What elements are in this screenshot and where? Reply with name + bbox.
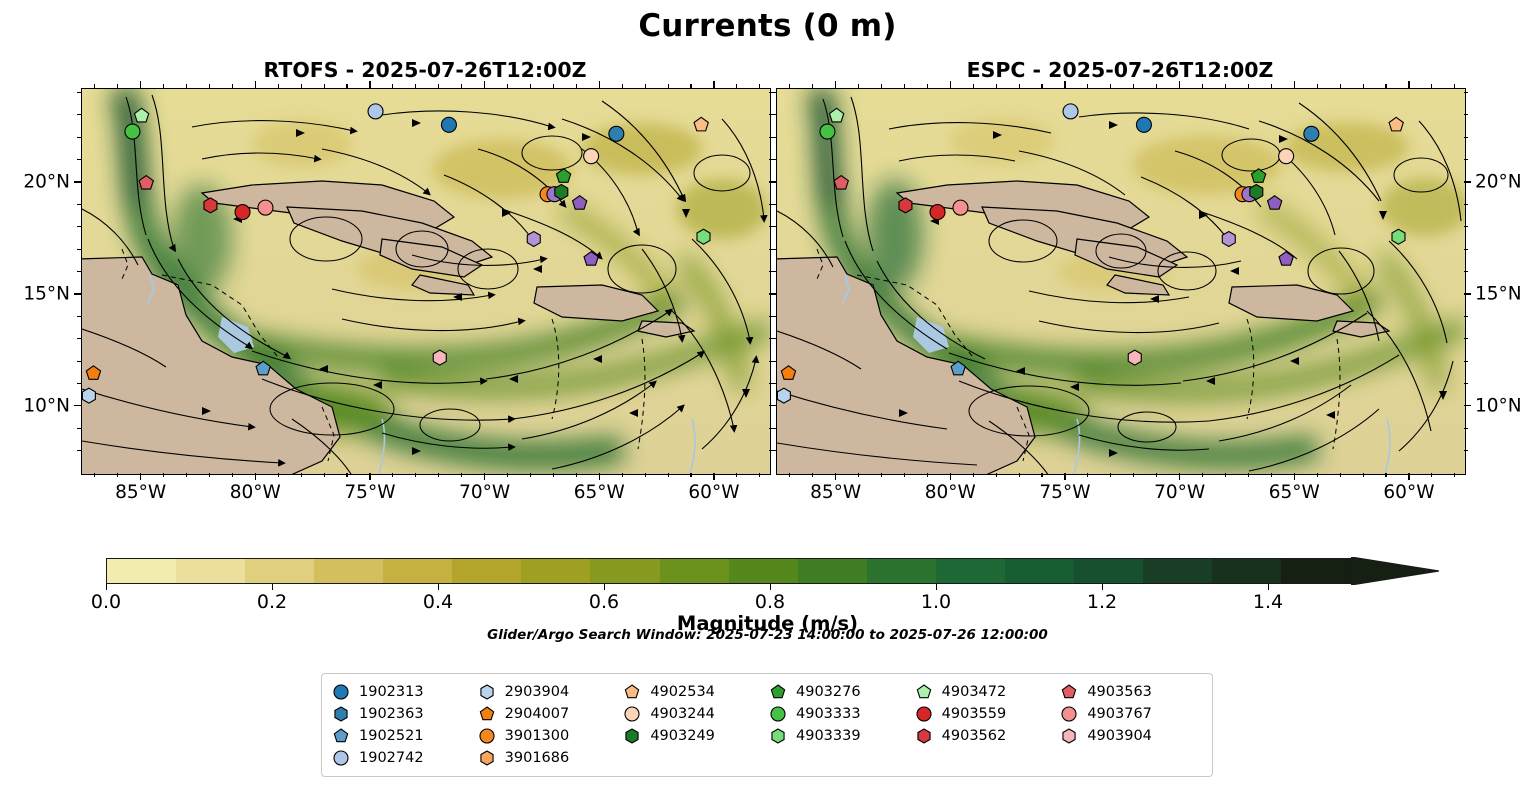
platform-marker-4902534[interactable] xyxy=(694,117,708,131)
legend-label: 4903904 xyxy=(1087,728,1152,744)
legend-label: 4903244 xyxy=(650,706,715,722)
y-tick-minor xyxy=(772,204,776,205)
platform-marker-4903339[interactable] xyxy=(697,229,710,244)
y-tick-label: 10°N xyxy=(1475,395,1522,416)
y-tick-major-right xyxy=(1464,181,1471,182)
x-tick-minor xyxy=(1110,473,1111,477)
x-tick-minor xyxy=(392,473,393,477)
y-tick-minor-right xyxy=(1464,249,1468,250)
colorbar[interactable] xyxy=(106,558,1436,584)
x-tick-major-top xyxy=(950,81,951,88)
y-tick-minor xyxy=(77,383,81,384)
x-tick-minor-top xyxy=(1248,84,1249,88)
colorbar-tick xyxy=(272,584,273,590)
colorbar-tick xyxy=(106,584,107,590)
colorbar-band-8 xyxy=(660,559,729,583)
platform-marker-1902313[interactable] xyxy=(1136,117,1151,132)
x-tick-major-top xyxy=(599,81,600,88)
x-tick-minor-top xyxy=(622,84,623,88)
legend-item-4903472[interactable]: 4903472 xyxy=(915,681,1057,702)
y-tick-minor xyxy=(772,159,776,160)
colorbar-tick-label: 1.2 xyxy=(1087,591,1117,613)
y-tick-major-right xyxy=(1464,293,1471,294)
x-tick-minor-top xyxy=(668,84,669,88)
x-tick-minor-top xyxy=(576,84,577,88)
legend-marker-hexagon xyxy=(915,727,933,745)
platform-marker-4903472[interactable] xyxy=(829,108,843,122)
legend-marker-circle xyxy=(1060,705,1078,723)
y-tick-major-right xyxy=(1464,405,1471,406)
x-tick-minor xyxy=(415,473,416,477)
y-tick-minor-right xyxy=(1464,271,1468,272)
y-tick-minor-right xyxy=(1464,383,1468,384)
legend-item-4903244[interactable]: 4903244 xyxy=(623,703,765,724)
platform-marker-4903562[interactable] xyxy=(204,198,217,213)
platform-marker-4903472[interactable] xyxy=(134,108,148,122)
y-tick-minor xyxy=(77,137,81,138)
x-tick-major xyxy=(950,473,951,480)
x-tick-label: 60°W xyxy=(688,482,739,503)
x-tick-label: 65°W xyxy=(1269,482,1320,503)
y-tick-minor-right xyxy=(1464,316,1468,317)
x-tick-label: 60°W xyxy=(1383,482,1434,503)
colorbar-band-5 xyxy=(452,559,521,583)
platform-marker-4903767[interactable] xyxy=(953,200,968,215)
x-tick-minor-top xyxy=(278,84,279,88)
platform-marker-6999992[interactable] xyxy=(1222,231,1235,246)
colorbar-band-17 xyxy=(1281,559,1350,583)
legend-marker-shape[interactable] xyxy=(626,729,638,743)
platform-marker-4903276[interactable] xyxy=(556,169,570,183)
legend-marker-shape[interactable] xyxy=(480,707,493,720)
x-tick-minor xyxy=(645,473,646,477)
x-tick-minor xyxy=(881,473,882,477)
x-tick-minor xyxy=(94,473,95,477)
y-tick-major xyxy=(74,293,81,294)
legend-marker-pentagon xyxy=(623,683,641,701)
platform-marker-4903244[interactable] xyxy=(584,149,599,164)
y-tick-minor xyxy=(77,226,81,227)
legend-marker-shape[interactable] xyxy=(917,685,930,698)
x-tick-minor-top xyxy=(1133,84,1134,88)
platform-marker-1902363[interactable] xyxy=(1304,126,1319,141)
y-tick-minor-right xyxy=(1464,428,1468,429)
platform-marker-4903244[interactable] xyxy=(1279,149,1294,164)
legend-label: 4903339 xyxy=(796,728,861,744)
legend-item-4902534[interactable]: 4902534 xyxy=(623,681,765,702)
y-tick-minor xyxy=(772,226,776,227)
legend-marker-circle xyxy=(915,705,933,723)
platform-legend[interactable]: 1902313190236319025211902742290390429040… xyxy=(321,673,1213,777)
colorbar-band-11 xyxy=(867,559,936,583)
x-tick-major-top xyxy=(369,81,370,88)
y-tick-minor xyxy=(772,249,776,250)
colorbar-tick xyxy=(438,584,439,590)
x-tick-major xyxy=(1408,473,1409,480)
platform-marker-4903904[interactable] xyxy=(433,350,446,365)
x-tick-major xyxy=(1294,473,1295,480)
x-tick-minor-top xyxy=(759,84,760,88)
x-tick-minor xyxy=(1225,473,1226,477)
legend-marker-shape[interactable] xyxy=(771,707,785,721)
x-tick-minor-top xyxy=(1019,84,1020,88)
x-tick-minor xyxy=(1041,473,1042,477)
platform-markers-espc xyxy=(777,89,1465,474)
legend-item-4903339[interactable]: 4903339 xyxy=(769,725,911,746)
platform-marker-1902313[interactable] xyxy=(441,117,456,132)
x-tick-minor xyxy=(1317,473,1318,477)
legend-marker-pentagon xyxy=(915,683,933,701)
x-tick-minor-top xyxy=(530,84,531,88)
legend-marker-hexagon xyxy=(769,727,787,745)
y-tick-minor-right xyxy=(1464,204,1468,205)
x-tick-minor-top xyxy=(690,84,691,88)
x-tick-minor xyxy=(1431,473,1432,477)
x-tick-minor-top xyxy=(996,84,997,88)
x-tick-minor xyxy=(858,473,859,477)
legend-item-1902363[interactable]: 1902363 xyxy=(332,703,474,724)
platform-marker-1902521[interactable] xyxy=(951,361,965,375)
x-tick-minor xyxy=(346,473,347,477)
legend-marker-circle xyxy=(332,749,350,767)
x-tick-minor xyxy=(789,473,790,477)
platform-markers-rtofs xyxy=(82,89,770,474)
legend-label: 4903276 xyxy=(796,684,861,700)
panel-title-espc: ESPC - 2025-07-26T12:00Z xyxy=(776,58,1464,82)
x-tick-label: 80°W xyxy=(230,482,281,503)
colorbar-band-0 xyxy=(107,559,176,583)
y-tick-minor-right xyxy=(1464,114,1468,115)
legend-item-4903276[interactable]: 4903276 xyxy=(769,681,911,702)
legend-marker-hexagon xyxy=(332,705,350,723)
platform-marker-4903249[interactable] xyxy=(1250,184,1263,199)
x-tick-minor-top xyxy=(1087,84,1088,88)
x-tick-minor xyxy=(438,473,439,477)
y-tick-minor xyxy=(77,428,81,429)
legend-item-3901300[interactable]: 3901300 xyxy=(478,725,620,746)
x-tick-minor-top xyxy=(1202,84,1203,88)
y-tick-minor xyxy=(77,450,81,451)
legend-label: 1902313 xyxy=(359,684,424,700)
x-tick-minor xyxy=(186,473,187,477)
y-tick-minor xyxy=(77,249,81,250)
legend-marker-shape[interactable] xyxy=(481,751,493,765)
x-tick-minor-top xyxy=(927,84,928,88)
platform-marker-1902521[interactable] xyxy=(256,361,270,375)
platform-marker-4903333[interactable] xyxy=(125,124,140,139)
x-tick-minor xyxy=(1019,473,1020,477)
x-tick-major-top xyxy=(1064,81,1065,88)
y-tick-major xyxy=(74,181,81,182)
legend-item-2903904[interactable]: 2903904 xyxy=(478,681,620,702)
x-tick-minor xyxy=(1156,473,1157,477)
legend-marker-shape[interactable] xyxy=(1062,707,1076,721)
platform-marker-4902534[interactable] xyxy=(1389,117,1403,131)
x-tick-major xyxy=(713,473,714,480)
platform-marker-4903563[interactable] xyxy=(834,176,848,190)
x-tick-major-top xyxy=(140,81,141,88)
x-tick-minor xyxy=(1271,473,1272,477)
x-tick-minor-top xyxy=(812,84,813,88)
x-tick-label: 75°W xyxy=(344,482,395,503)
colorbar-tick-label: 0.6 xyxy=(589,591,619,613)
x-tick-minor-top xyxy=(94,84,95,88)
x-tick-minor-top xyxy=(415,84,416,88)
legend-marker-shape[interactable] xyxy=(334,685,348,699)
legend-marker-shape[interactable] xyxy=(626,685,639,698)
colorbar-band-7 xyxy=(590,559,659,583)
colorbar-tick-label: 1.0 xyxy=(921,591,951,613)
x-tick-minor xyxy=(278,473,279,477)
x-tick-minor-top xyxy=(973,84,974,88)
x-tick-minor-top xyxy=(346,84,347,88)
platform-marker-1902742[interactable] xyxy=(368,104,383,119)
legend-label: 4903333 xyxy=(796,706,861,722)
colorbar-band-6 xyxy=(521,559,590,583)
platform-marker-2904007[interactable] xyxy=(781,366,795,380)
x-tick-minor-top xyxy=(1317,84,1318,88)
map-panel-rtofs[interactable] xyxy=(81,88,771,475)
colorbar-tick-label: 0.4 xyxy=(423,591,453,613)
x-tick-major-top xyxy=(1408,81,1409,88)
x-tick-minor xyxy=(1385,473,1386,477)
x-tick-minor xyxy=(117,473,118,477)
x-tick-major-top xyxy=(255,81,256,88)
platform-marker-4903904[interactable] xyxy=(1128,350,1141,365)
platform-marker-4903563[interactable] xyxy=(139,176,153,190)
x-tick-minor-top xyxy=(1156,84,1157,88)
x-tick-minor xyxy=(973,473,974,477)
y-tick-minor xyxy=(77,114,81,115)
y-tick-major xyxy=(769,181,776,182)
x-tick-minor-top xyxy=(789,84,790,88)
x-tick-major xyxy=(1064,473,1065,480)
legend-item-2904007[interactable]: 2904007 xyxy=(478,703,620,724)
y-tick-minor xyxy=(772,338,776,339)
colorbar-tick xyxy=(1102,584,1103,590)
legend-label: 2903904 xyxy=(505,684,570,700)
x-tick-minor xyxy=(301,473,302,477)
panel-title-rtofs: RTOFS - 2025-07-26T12:00Z xyxy=(81,58,769,82)
x-tick-minor xyxy=(812,473,813,477)
x-tick-minor xyxy=(209,473,210,477)
colorbar-band-3 xyxy=(314,559,383,583)
map-panel-espc[interactable] xyxy=(776,88,1466,475)
x-tick-minor xyxy=(759,473,760,477)
x-tick-major-top xyxy=(1294,81,1295,88)
legend-marker-circle xyxy=(623,705,641,723)
y-tick-label: 20°N xyxy=(1475,172,1522,193)
legend-item-4903249[interactable]: 4903249 xyxy=(623,725,765,746)
colorbar-band-12 xyxy=(936,559,1005,583)
y-tick-minor-right xyxy=(1464,159,1468,160)
y-tick-label: 20°N xyxy=(23,172,70,193)
colorbar-extend-arrow xyxy=(1351,557,1439,585)
x-tick-major-top xyxy=(1179,81,1180,88)
x-tick-major-top xyxy=(713,81,714,88)
y-tick-minor xyxy=(77,159,81,160)
x-tick-major-top xyxy=(484,81,485,88)
x-tick-minor-top xyxy=(507,84,508,88)
legend-label: 4903249 xyxy=(650,728,715,744)
x-tick-label: 75°W xyxy=(1039,482,1090,503)
y-tick-label: 15°N xyxy=(1475,283,1522,304)
colorbar-band-10 xyxy=(798,559,867,583)
legend-marker-shape[interactable] xyxy=(334,751,348,765)
colorbar-tick xyxy=(1268,584,1269,590)
x-tick-minor xyxy=(1340,473,1341,477)
colorbar-band-1 xyxy=(176,559,245,583)
x-tick-minor xyxy=(1363,473,1364,477)
y-tick-minor xyxy=(77,316,81,317)
legend-marker-shape[interactable] xyxy=(917,707,931,721)
x-tick-minor xyxy=(1133,473,1134,477)
y-tick-minor xyxy=(772,137,776,138)
x-tick-minor-top xyxy=(209,84,210,88)
legend-marker-hexagon xyxy=(1060,727,1078,745)
legend-marker-hexagon xyxy=(623,727,641,745)
x-tick-minor xyxy=(461,473,462,477)
legend-marker-shape[interactable] xyxy=(625,707,639,721)
legend-marker-shape[interactable] xyxy=(771,685,784,698)
legend-item-4903333[interactable]: 4903333 xyxy=(769,703,911,724)
y-tick-minor xyxy=(77,361,81,362)
legend-marker-shape[interactable] xyxy=(1063,729,1075,743)
x-tick-minor xyxy=(996,473,997,477)
x-tick-minor xyxy=(530,473,531,477)
legend-item-1902742[interactable]: 1902742 xyxy=(332,747,474,768)
x-tick-minor xyxy=(1202,473,1203,477)
platform-marker-4903333[interactable] xyxy=(820,124,835,139)
x-tick-minor-top xyxy=(1431,84,1432,88)
legend-label: 1902363 xyxy=(359,706,424,722)
legend-label: 4903559 xyxy=(942,706,1007,722)
legend-marker-shape[interactable] xyxy=(918,729,930,743)
figure-title: Currents (0 m) xyxy=(0,8,1535,44)
x-tick-minor xyxy=(736,473,737,477)
platform-marker-6999992[interactable] xyxy=(527,231,540,246)
x-tick-major xyxy=(369,473,370,480)
platform-marker-6903111[interactable] xyxy=(1268,196,1282,210)
x-tick-major xyxy=(255,473,256,480)
legend-marker-pentagon xyxy=(769,683,787,701)
y-tick-minor-right xyxy=(1464,137,1468,138)
legend-item-4903767[interactable]: 4903767 xyxy=(1060,703,1202,724)
x-tick-major xyxy=(484,473,485,480)
legend-item-4903563[interactable]: 4903563 xyxy=(1060,681,1202,702)
x-tick-label: 85°W xyxy=(810,482,861,503)
platform-marker-6903111b[interactable] xyxy=(1279,252,1293,266)
legend-marker-hexagon xyxy=(478,749,496,767)
x-tick-minor-top xyxy=(392,84,393,88)
colorbar-gradient xyxy=(106,558,1351,584)
platform-marker-6903111[interactable] xyxy=(573,196,587,210)
legend-marker-shape[interactable] xyxy=(481,685,493,699)
x-tick-minor-top xyxy=(881,84,882,88)
colorbar-band-4 xyxy=(383,559,452,583)
legend-grid: 1902313190236319025211902742290390429040… xyxy=(332,681,1202,768)
platform-marker-1902363[interactable] xyxy=(609,126,624,141)
colorbar-tick-label: 0.0 xyxy=(91,591,121,613)
x-tick-major xyxy=(1179,473,1180,480)
colorbar-tick xyxy=(604,584,605,590)
platform-marker-4903559[interactable] xyxy=(235,205,250,220)
platform-marker-6903111b[interactable] xyxy=(584,252,598,266)
x-tick-minor-top xyxy=(1340,84,1341,88)
colorbar-band-14 xyxy=(1074,559,1143,583)
x-tick-major xyxy=(140,473,141,480)
x-tick-minor xyxy=(904,473,905,477)
y-tick-major xyxy=(74,405,81,406)
figure-canvas: Currents (0 m) RTOFS - 2025-07-26T12:00Z… xyxy=(0,0,1535,802)
legend-marker-pentagon xyxy=(332,727,350,745)
colorbar-tick xyxy=(936,584,937,590)
x-tick-minor xyxy=(1087,473,1088,477)
x-tick-minor xyxy=(690,473,691,477)
legend-item-4903904[interactable]: 4903904 xyxy=(1060,725,1202,746)
y-tick-minor-right xyxy=(1464,361,1468,362)
x-tick-minor-top xyxy=(117,84,118,88)
x-tick-major-top xyxy=(835,81,836,88)
platform-marker-4903559[interactable] xyxy=(930,205,945,220)
legend-marker-shape[interactable] xyxy=(335,707,347,721)
platform-marker-4903249[interactable] xyxy=(555,184,568,199)
colorbar-tick-label: 1.4 xyxy=(1253,591,1283,613)
legend-marker-pentagon xyxy=(478,705,496,723)
y-tick-minor xyxy=(772,92,776,93)
y-tick-minor xyxy=(772,271,776,272)
legend-item-1902313[interactable]: 1902313 xyxy=(332,681,474,702)
colorbar-band-16 xyxy=(1212,559,1281,583)
y-tick-minor-right xyxy=(1464,226,1468,227)
platform-marker-1902742[interactable] xyxy=(1063,104,1078,119)
legend-item-4903562[interactable]: 4903562 xyxy=(915,725,1057,746)
y-tick-minor xyxy=(77,338,81,339)
colorbar-tick xyxy=(770,584,771,590)
x-tick-label: 70°W xyxy=(1154,482,1205,503)
x-tick-minor xyxy=(576,473,577,477)
legend-item-3901686[interactable]: 3901686 xyxy=(478,747,620,768)
platform-marker-2903904[interactable] xyxy=(777,388,790,403)
legend-marker-shape[interactable] xyxy=(1063,685,1076,698)
legend-item-1902521[interactable]: 1902521 xyxy=(332,725,474,746)
platform-marker-4903339[interactable] xyxy=(1392,229,1405,244)
y-tick-minor xyxy=(772,114,776,115)
legend-item-4903559[interactable]: 4903559 xyxy=(915,703,1057,724)
colorbar-band-2 xyxy=(245,559,314,583)
x-tick-minor xyxy=(163,473,164,477)
x-tick-minor-top xyxy=(1110,84,1111,88)
y-tick-minor xyxy=(772,316,776,317)
platform-marker-4903276[interactable] xyxy=(1251,169,1265,183)
legend-marker-shape[interactable] xyxy=(772,729,784,743)
x-tick-major xyxy=(599,473,600,480)
x-tick-minor-top xyxy=(858,84,859,88)
legend-label: 4903767 xyxy=(1087,706,1152,722)
platform-marker-4903562[interactable] xyxy=(899,198,912,213)
platform-marker-2904007[interactable] xyxy=(86,366,100,380)
legend-marker-shape[interactable] xyxy=(480,729,494,743)
platform-marker-4903767[interactable] xyxy=(258,200,273,215)
x-tick-minor-top xyxy=(645,84,646,88)
platform-marker-2903904[interactable] xyxy=(82,388,95,403)
x-tick-minor-top xyxy=(1454,84,1455,88)
legend-marker-shape[interactable] xyxy=(334,729,347,742)
legend-label: 3901300 xyxy=(505,728,570,744)
y-tick-minor xyxy=(772,450,776,451)
x-tick-minor-top xyxy=(1363,84,1364,88)
colorbar-tick-label: 0.8 xyxy=(755,591,785,613)
